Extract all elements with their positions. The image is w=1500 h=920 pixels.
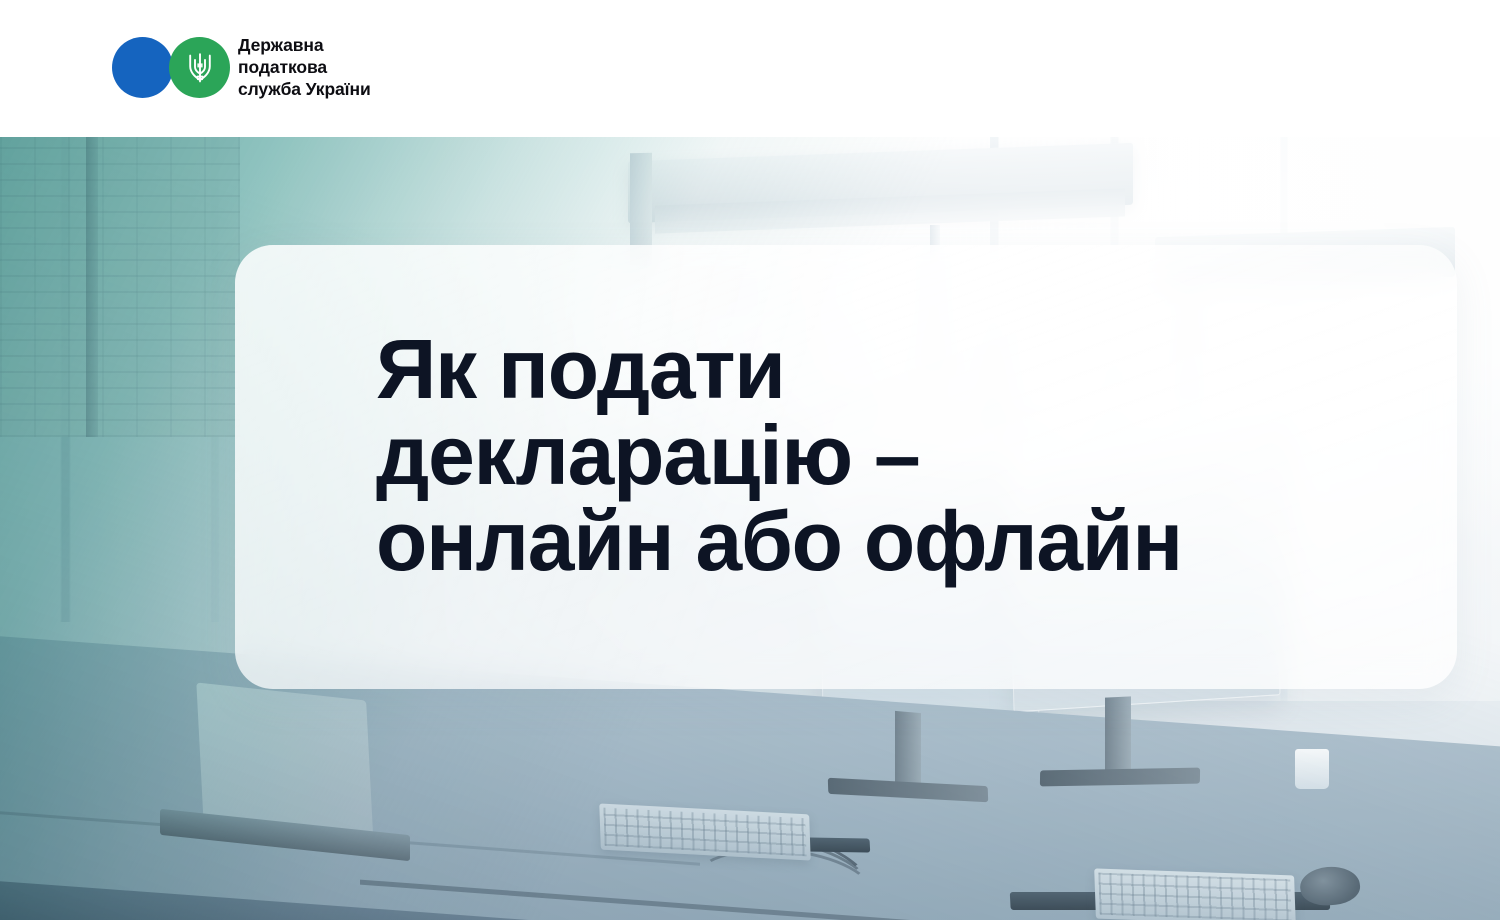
hero-title-line-2: декларацію – <box>376 412 1396 498</box>
brand-name-line-1: Державна <box>238 34 371 56</box>
hero-title: Як подати декларацію – онлайн або офлайн <box>376 326 1396 584</box>
ukraine-trident-icon <box>186 51 214 85</box>
blue-circle-icon <box>112 37 173 98</box>
slide-canvas: Як подати декларацію – онлайн або офлайн <box>0 0 1500 920</box>
green-circle-icon <box>169 37 230 98</box>
logo-marks <box>112 33 230 101</box>
brand-name-line-2: податкова <box>238 56 371 78</box>
brand-logo[interactable]: Державна податкова служба України <box>112 33 371 101</box>
page-header: Державна податкова служба України <box>0 0 1500 137</box>
brand-name-line-3: служба України <box>238 78 371 100</box>
hero-title-line-3: онлайн або офлайн <box>376 498 1396 584</box>
brand-name: Державна податкова служба України <box>238 34 371 100</box>
hero-title-line-1: Як подати <box>376 326 1396 412</box>
